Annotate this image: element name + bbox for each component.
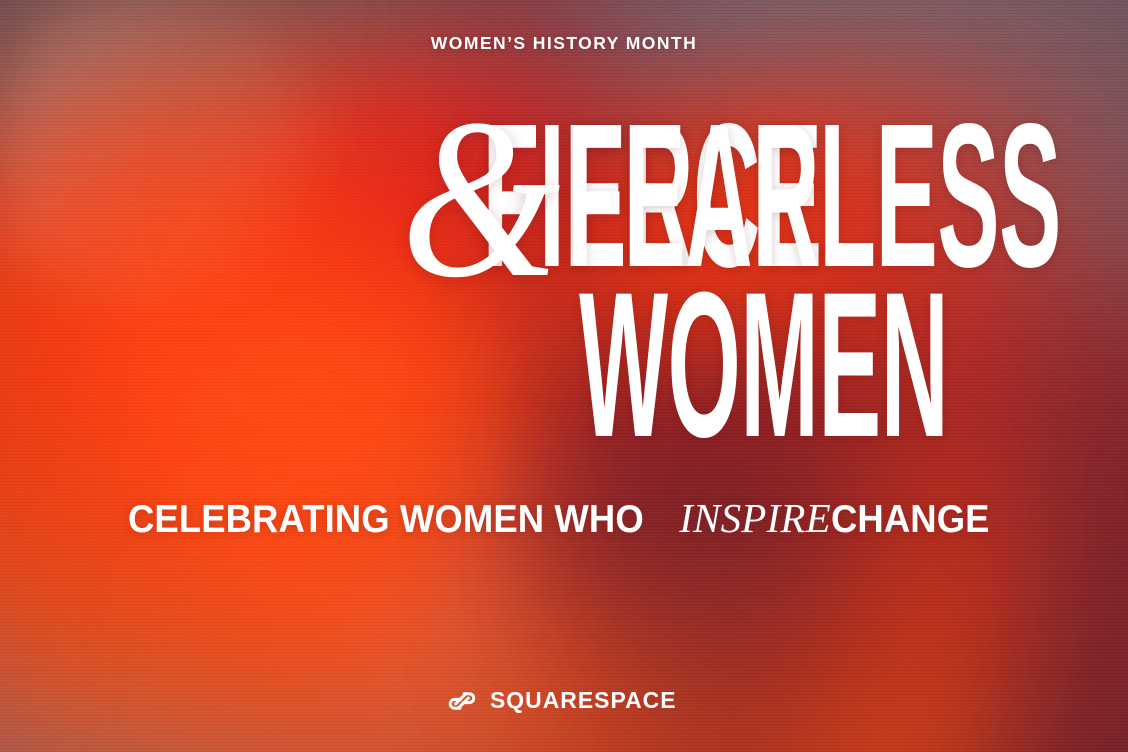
headline-line-1: FIERCE&FEARLESS xyxy=(0,106,1128,266)
poster-content: WOMEN’S HISTORY MONTH FIERCE&FEARLESS WO… xyxy=(0,0,1128,752)
headline-line-2: WOMEN xyxy=(0,288,1128,450)
subtitle: CELEBRATING WOMEN WHO INSPIRE CHANGE xyxy=(128,498,1001,539)
headline-block: FIERCE&FEARLESS WOMEN xyxy=(0,106,1128,450)
poster-canvas: WOMEN’S HISTORY MONTH FIERCE&FEARLESS WO… xyxy=(0,0,1128,752)
headline-ampersand: & xyxy=(401,115,561,284)
subtitle-emphasis-inspire: INSPIRE xyxy=(679,495,831,541)
headline-word-fierce-wrap: FIERCE xyxy=(76,120,395,272)
eyebrow-label: WOMEN’S HISTORY MONTH xyxy=(431,33,697,54)
subtitle-text-after: CHANGE xyxy=(831,500,990,539)
subtitle-text-before: CELEBRATING WOMEN WHO xyxy=(128,500,644,539)
headline-word-women: WOMEN xyxy=(579,288,948,441)
